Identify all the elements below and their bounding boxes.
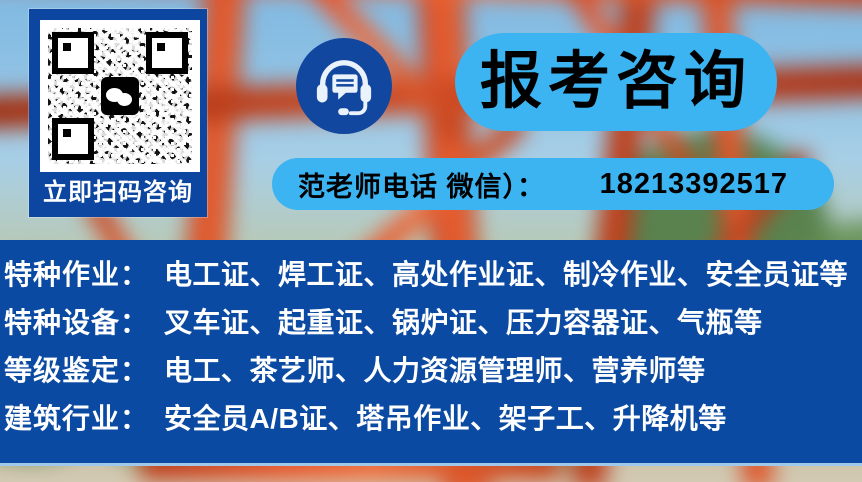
signup-consult-button[interactable]: 报考咨询 [455, 33, 777, 131]
info-row-category: 特种作业： [4, 253, 164, 293]
qr-finder-bottom-left [52, 118, 94, 160]
qr-code-card[interactable]: 立即扫码咨询 [29, 9, 207, 217]
info-row-category: 建筑行业： [4, 397, 164, 437]
headset-support-icon[interactable] [296, 38, 392, 134]
qr-caption: 立即扫码咨询 [34, 177, 202, 209]
qr-finder-top-right [146, 32, 188, 74]
info-row: 建筑行业： 安全员A/B证、塔吊作业、架子工、升降机等 [4, 397, 862, 445]
phone-contact-pill[interactable]: 范老师电话 微信）： 18213392517 [272, 158, 834, 210]
phone-label: 范老师电话 微信）： [298, 165, 545, 204]
phone-number[interactable]: 18213392517 [600, 168, 808, 201]
info-row-category: 等级鉴定： [4, 349, 164, 389]
wechat-bubble-small [117, 93, 132, 106]
info-row: 特种作业： 电工证、焊工证、高处作业证、制冷作业、安全员证等 [4, 253, 862, 301]
info-row-items: 叉车证、起重证、锅炉证、压力容器证、气瓶等 [164, 301, 763, 341]
qr-code-image [40, 20, 200, 172]
info-row: 特种设备： 叉车证、起重证、锅炉证、压力容器证、气瓶等 [4, 301, 862, 349]
qr-finder-top-left [52, 32, 94, 74]
signup-consult-label: 报考咨询 [480, 51, 752, 113]
certification-list-panel: 特种作业： 电工证、焊工证、高处作业证、制冷作业、安全员证等 特种设备： 叉车证… [0, 240, 862, 466]
wechat-icon [101, 77, 139, 115]
info-row-category: 特种设备： [4, 301, 164, 341]
promo-poster: 立即扫码咨询 报考咨询 范老师电话 微信）： 18213392517 特种作业：… [0, 0, 862, 482]
info-row-items: 安全员A/B证、塔吊作业、架子工、升降机等 [164, 397, 727, 437]
info-row-items: 电工、茶艺师、人力资源管理师、营养师等 [164, 349, 706, 389]
info-row-items: 电工证、焊工证、高处作业证、制冷作业、安全员证等 [164, 253, 848, 293]
info-row: 等级鉴定： 电工、茶艺师、人力资源管理师、营养师等 [4, 349, 862, 397]
